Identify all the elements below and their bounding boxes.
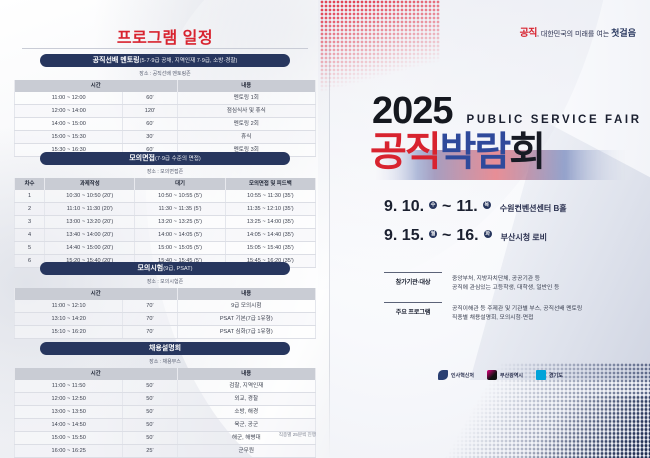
program-schedule-title: 프로그램 일정 [0, 24, 330, 48]
cell-content: 멘토링 2회 [177, 118, 315, 131]
title-part-3: 회 [509, 130, 544, 174]
section-mock-interview-place: 장소 : 모의면접존 [14, 168, 316, 175]
cell-time: 11:00 ~ 12:00 [15, 92, 123, 105]
cell-round: 2 [15, 203, 45, 216]
event-dates-block: 9. 10. 수 ~ 11. 목 수원컨벤션센터 B홀 9. 15. 월 ~ 1… [384, 198, 567, 256]
date-end-weekday-badge: 목 [483, 201, 491, 209]
section-mock-exam-badge-sub: (9급, PSAT) [163, 266, 192, 272]
cell-duration: 50' [123, 393, 177, 406]
gyeonggi-emblem-icon [536, 370, 546, 380]
date-end-weekday-badge: 화 [484, 230, 492, 238]
col-header-task: 과제작성 [45, 178, 135, 190]
table-header-row: 시간 내용 [15, 80, 316, 92]
cell-wait: 11:30 ~ 11:35 (5') [135, 203, 225, 216]
col-header-time: 시간 [15, 368, 178, 380]
brand-slogan: 공직, 대한민국의 미래를 여는 첫걸음 [520, 24, 636, 39]
table-header-row: 차수 과제작성 대기 모의면접 및 피드백 [15, 178, 316, 190]
cell-interview: 10:55 ~ 11:30 (35') [225, 190, 315, 203]
cell-content: 9급 모의시험 [177, 300, 315, 313]
cell-duration: 70' [123, 313, 177, 326]
government-emblem-icon [438, 370, 448, 380]
table-row: 14:00 ~ 15:00 60' 멘토링 2회 [15, 118, 316, 131]
cell-task: 11:10 ~ 11:30 (20') [45, 203, 135, 216]
info-row-programs: 주요 프로그램 공직이해관 등 주제관 및 기관별 부스, 공직선배 멘토링 직… [384, 302, 634, 323]
date-start: 9. 15. [384, 227, 424, 245]
section-recruitment-briefing-place: 장소 : 채용부스 [14, 358, 316, 365]
cell-duration: 50' [123, 419, 177, 432]
cell-round: 5 [15, 242, 45, 255]
cell-duration: 50' [123, 406, 177, 419]
cell-content: 휴식 [177, 131, 315, 144]
cell-task: 10:30 ~ 10:50 (20') [45, 190, 135, 203]
section-recruitment-briefing-badge: 채용설명회 [40, 342, 290, 355]
date-start-weekday-badge: 월 [429, 230, 437, 238]
year-and-english-title: 2025 PUBLIC SERVICE FAIR [372, 92, 642, 130]
cell-wait: 14:00 ~ 14:05 (5') [135, 229, 225, 242]
col-header-interview: 모의면접 및 피드백 [225, 178, 315, 190]
cell-time: 16:00 ~ 16:25 [15, 445, 123, 458]
cell-interview: 11:35 ~ 12:10 (35') [225, 203, 315, 216]
date-start: 9. 10. [384, 198, 424, 216]
cell-time: 15:00 ~ 15:30 [15, 131, 123, 144]
cell-content: 육군, 공군 [177, 419, 315, 432]
info-value-line: 공직이해관 등 주제관 및 기관별 부스, 공직선배 멘토링 [452, 305, 582, 314]
section-recruitment-briefing-badge-main: 채용설명회 [149, 345, 181, 352]
cell-content: PSAT 심화(7급 1유형) [177, 326, 315, 339]
logo-mpm: 인사혁신처 [438, 370, 474, 380]
cell-wait: 15:00 ~ 15:05 (5') [135, 242, 225, 255]
table-row: 4 13:40 ~ 14:00 (20') 14:00 ~ 14:05 (5')… [15, 229, 316, 242]
logo-label: 부산광역시 [500, 372, 523, 379]
info-row-participants: 참가기관·대상 중앙부처, 지방자치단체, 공공기관 등 공직에 관심있는 고등… [384, 272, 634, 293]
section-mock-interview-badge-main: 모의면접 [129, 155, 155, 162]
mock-interview-schedule-table: 차수 과제작성 대기 모의면접 및 피드백 1 10:30 ~ 10:50 (2… [14, 178, 316, 268]
slogan-end: 첫걸음 [611, 28, 636, 38]
table-row: 15:00 ~ 15:30 30' 휴식 [15, 131, 316, 144]
cell-round: 4 [15, 229, 45, 242]
organizer-logos: 인사혁신처 부산광역시 경기도 [438, 370, 563, 380]
section-mock-exam-badge: 모의시험(9급, PSAT) [40, 262, 290, 275]
event-year: 2025 [372, 92, 453, 130]
schedule-footnote: 직종별 25분씩 진행 [14, 432, 316, 438]
recruitment-briefing-schedule-table: 시간 내용 11:00 ~ 11:50 50' 검찰, 지역인재 12:00 ~… [14, 368, 316, 458]
section-mock-interview: 모의면접(7·9급 수준의 면접) 장소 : 모의면접존 차수 과제작성 대기 … [14, 152, 316, 268]
mentoring-schedule-table: 시간 내용 11:00 ~ 12:00 60' 멘토링 1회 12:00 ~ 1… [14, 80, 316, 157]
cell-interview: 14:05 ~ 14:40 (35') [225, 229, 315, 242]
section-mentoring-place: 장소 : 공직선배 멘토링존 [14, 70, 316, 77]
cell-content: 멘토링 1회 [177, 92, 315, 105]
cell-duration: 70' [123, 300, 177, 313]
info-value-line: 공직에 관심있는 고등학생, 대학생, 일반인 등 [452, 284, 559, 293]
section-mock-exam-place: 장소 : 모의시험존 [14, 278, 316, 285]
table-row: 12:00 ~ 12:50 50' 외교, 경찰 [15, 393, 316, 406]
event-date-row: 9. 15. 월 ~ 16. 화 부산시청 로비 [384, 227, 567, 245]
slogan-keyword: 공직 [520, 28, 537, 39]
section-mentoring: 공직선배 멘토링(5·7·9급 공채, 지역인재 7·9급, 소방·경찰) 장소… [14, 54, 316, 157]
date-start-weekday-badge: 수 [429, 201, 437, 209]
cell-duration: 120' [123, 105, 177, 118]
cell-content: 외교, 경찰 [177, 393, 315, 406]
cell-time: 11:00 ~ 11:50 [15, 380, 123, 393]
table-row: 5 14:40 ~ 15:00 (20') 15:00 ~ 15:05 (5')… [15, 242, 316, 255]
col-header-time: 시간 [15, 80, 178, 92]
section-mentoring-badge-sub: (5·7·9급 공채, 지역인재 7·9급, 소방·경찰) [140, 58, 238, 64]
cell-time: 15:10 ~ 16:20 [15, 326, 123, 339]
info-value-line: 직종별 채용설명회, 모의시험·면접 [452, 314, 582, 323]
cell-time: 14:00 ~ 15:00 [15, 118, 123, 131]
cell-interview: 13:25 ~ 14:00 (35') [225, 216, 315, 229]
table-row: 3 13:00 ~ 13:20 (20') 13:20 ~ 13:25 (5')… [15, 216, 316, 229]
title-part-1: 공직 [370, 130, 440, 174]
event-title-korean: 공직박람회 [370, 132, 544, 172]
title-part-2: 박람 [440, 130, 510, 174]
section-mock-exam-badge-main: 모의시험 [137, 265, 163, 272]
date-venue: 수원컨벤션센터 B홀 [500, 203, 567, 214]
cell-wait: 10:50 ~ 10:55 (5') [135, 190, 225, 203]
poster-root: 프로그램 일정 공직선배 멘토링(5·7·9급 공채, 지역인재 7·9급, 소… [0, 0, 650, 458]
cell-round: 3 [15, 216, 45, 229]
col-header-content: 내용 [177, 288, 315, 300]
cell-duration: 30' [123, 131, 177, 144]
table-row: 11:00 ~ 11:50 50' 검찰, 지역인재 [15, 380, 316, 393]
col-header-content: 내용 [177, 80, 315, 92]
date-venue: 부산시청 로비 [501, 232, 547, 243]
cell-task: 14:40 ~ 15:00 (20') [45, 242, 135, 255]
slogan-text: 대한민국의 미래를 여는 [541, 31, 609, 38]
table-row: 14:00 ~ 14:50 50' 육군, 공군 [15, 419, 316, 432]
cell-duration: 25' [123, 445, 177, 458]
cell-time: 13:10 ~ 14:20 [15, 313, 123, 326]
logo-busan: 부산광역시 [487, 370, 523, 380]
cell-wait: 13:20 ~ 13:25 (5') [135, 216, 225, 229]
table-header-row: 시간 내용 [15, 368, 316, 380]
cell-task: 13:40 ~ 14:00 (20') [45, 229, 135, 242]
date-tilde: ~ [442, 227, 451, 245]
table-row: 11:00 ~ 12:00 60' 멘토링 1회 [15, 92, 316, 105]
table-header-row: 시간 내용 [15, 288, 316, 300]
cell-duration: 60' [123, 92, 177, 105]
section-mentoring-badge: 공직선배 멘토링(5·7·9급 공채, 지역인재 7·9급, 소방·경찰) [40, 54, 290, 67]
col-header-time: 시간 [15, 288, 178, 300]
table-row: 13:10 ~ 14:20 70' PSAT 기본(7급 1유형) [15, 313, 316, 326]
table-row: 16:00 ~ 16:25 25' 군무원 [15, 445, 316, 458]
event-title-english: PUBLIC SERVICE FAIR [467, 114, 642, 126]
logo-label: 경기도 [549, 372, 563, 379]
cell-time: 12:00 ~ 12:50 [15, 393, 123, 406]
cell-time: 11:00 ~ 12:10 [15, 300, 123, 313]
cell-time: 13:00 ~ 13:50 [15, 406, 123, 419]
col-header-content: 내용 [177, 368, 315, 380]
info-values-participants: 중앙부처, 지방자치단체, 공공기관 등 공직에 관심있는 고등학생, 대학생,… [452, 272, 559, 293]
table-row: 13:00 ~ 13:50 50' 소방, 해경 [15, 406, 316, 419]
date-end: 11. [456, 198, 477, 216]
info-label-programs: 주요 프로그램 [384, 302, 442, 323]
date-tilde: ~ [442, 198, 451, 216]
date-end: 16. [456, 227, 478, 245]
cell-content: 검찰, 지역인재 [177, 380, 315, 393]
cell-duration: 50' [123, 380, 177, 393]
col-header-wait: 대기 [135, 178, 225, 190]
table-row: 15:10 ~ 16:20 70' PSAT 심화(7급 1유형) [15, 326, 316, 339]
table-row: 12:00 ~ 14:00 120' 점심식사 및 휴식 [15, 105, 316, 118]
logo-label: 인사혁신처 [451, 372, 474, 379]
cell-interview: 15:05 ~ 15:40 (35') [225, 242, 315, 255]
section-mentoring-badge-main: 공직선배 멘토링 [93, 57, 140, 64]
cell-task: 13:00 ~ 13:20 (20') [45, 216, 135, 229]
cell-time: 12:00 ~ 14:00 [15, 105, 123, 118]
slogan-comma: , [537, 31, 539, 38]
event-info-block: 참가기관·대상 중앙부처, 지방자치단체, 공공기관 등 공직에 관심있는 고등… [384, 272, 634, 332]
section-mock-exam: 모의시험(9급, PSAT) 장소 : 모의시험존 시간 내용 11:00 ~ … [14, 262, 316, 339]
busan-emblem-icon [487, 370, 497, 380]
event-date-row: 9. 10. 수 ~ 11. 목 수원컨벤션센터 B홀 [384, 198, 567, 216]
info-label-participants: 참가기관·대상 [384, 272, 442, 293]
title-divider-rule [22, 48, 308, 49]
cell-round: 1 [15, 190, 45, 203]
table-row: 11:00 ~ 12:10 70' 9급 모의시험 [15, 300, 316, 313]
right-panel: 공직, 대한민국의 미래를 여는 첫걸음 2025 PUBLIC SERVICE… [330, 0, 650, 458]
section-mock-interview-badge-sub: (7·9급 수준의 면접) [155, 156, 201, 162]
table-row: 1 10:30 ~ 10:50 (20') 10:50 ~ 10:55 (5')… [15, 190, 316, 203]
cell-duration: 70' [123, 326, 177, 339]
section-recruitment-briefing: 채용설명회 장소 : 채용부스 시간 내용 11:00 ~ 11:50 50' … [14, 342, 316, 458]
cell-content: 점심식사 및 휴식 [177, 105, 315, 118]
logo-gyeonggi: 경기도 [536, 370, 563, 380]
cell-content: 소방, 해경 [177, 406, 315, 419]
col-header-round: 차수 [15, 178, 45, 190]
left-panel: 프로그램 일정 공직선배 멘토링(5·7·9급 공채, 지역인재 7·9급, 소… [0, 0, 330, 458]
table-row: 2 11:10 ~ 11:30 (20') 11:30 ~ 11:35 (5')… [15, 203, 316, 216]
cell-duration: 60' [123, 118, 177, 131]
mock-exam-schedule-table: 시간 내용 11:00 ~ 12:10 70' 9급 모의시험 13:10 ~ … [14, 288, 316, 339]
cell-content: 군무원 [177, 445, 315, 458]
section-mock-interview-badge: 모의면접(7·9급 수준의 면접) [40, 152, 290, 165]
cell-content: PSAT 기본(7급 1유형) [177, 313, 315, 326]
info-values-programs: 공직이해관 등 주제관 및 기관별 부스, 공직선배 멘토링 직종별 채용설명회… [452, 302, 582, 323]
info-value-line: 중앙부처, 지방자치단체, 공공기관 등 [452, 275, 559, 284]
cell-time: 14:00 ~ 14:50 [15, 419, 123, 432]
